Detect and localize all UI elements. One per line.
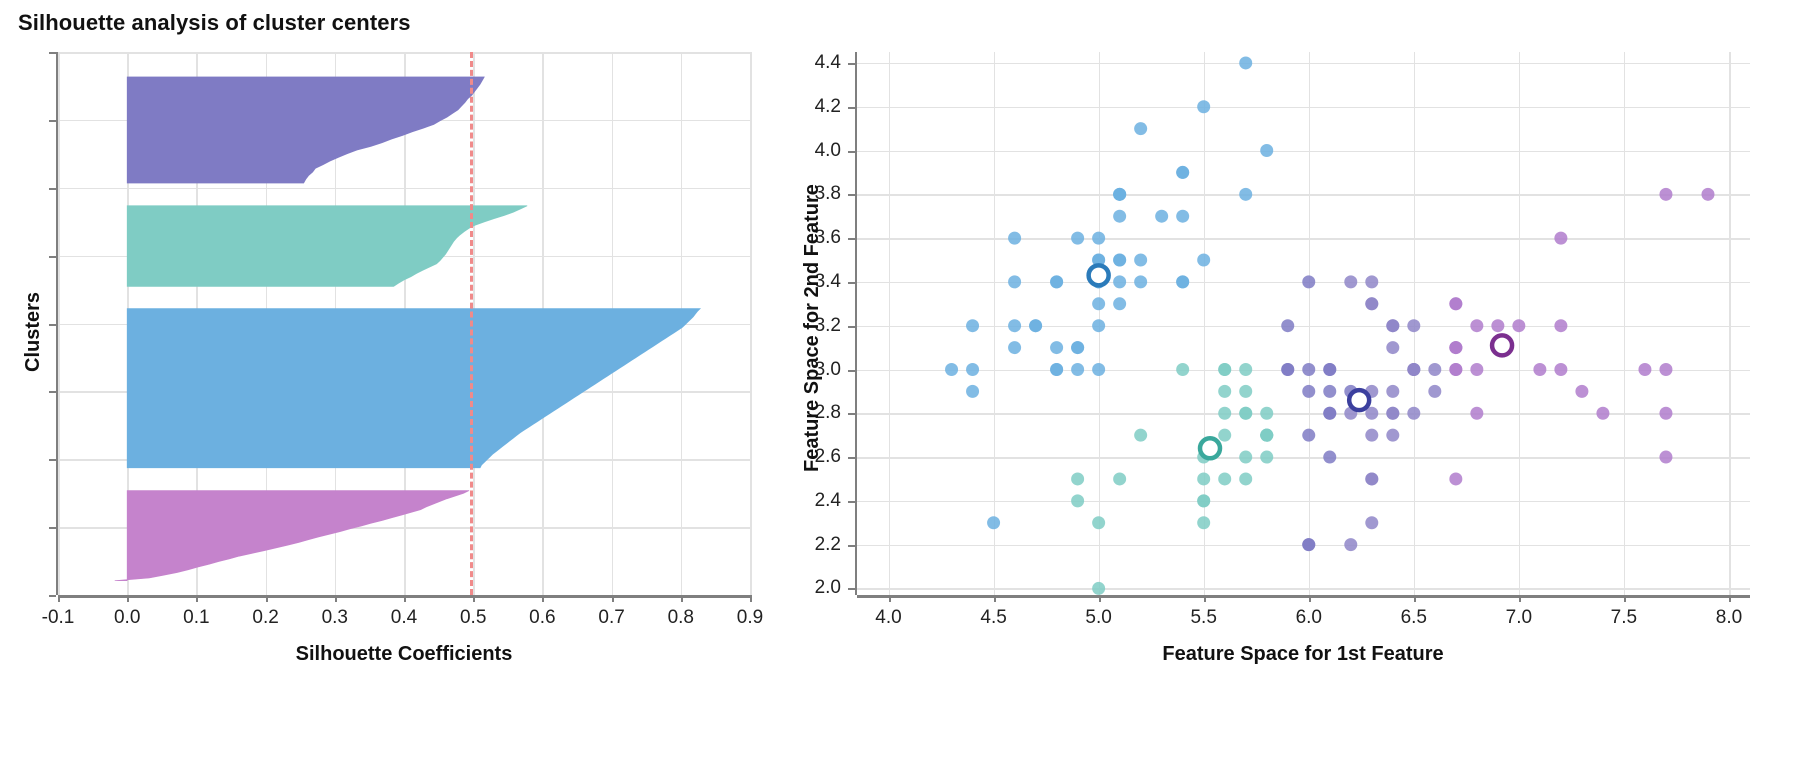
y-tick (49, 324, 56, 326)
scatter-point (1092, 582, 1105, 595)
scatter-point (1008, 232, 1021, 245)
scatter-plot-area: 4.04.55.05.56.06.57.07.58.02.02.22.42.62… (857, 52, 1750, 595)
scatter-point (1113, 254, 1126, 267)
scatter-point (1239, 407, 1252, 420)
scatter-point (1260, 429, 1273, 442)
y-tick-label: 4.4 (815, 52, 841, 74)
scatter-point (1344, 275, 1357, 288)
x-tick-label: 0.7 (598, 607, 624, 629)
x-tick (612, 595, 614, 602)
scatter-panel: 4.04.55.05.56.06.57.07.58.02.02.22.42.62… (857, 52, 1750, 595)
scatter-point (1260, 407, 1273, 420)
x-tick (196, 595, 198, 602)
scatter-point (1365, 297, 1378, 310)
y-tick (848, 107, 855, 109)
y-tick (848, 282, 855, 284)
y-tick-label: 4.2 (815, 96, 841, 118)
scatter-point (1218, 363, 1231, 376)
y-tick (848, 63, 855, 65)
x-tick (1309, 595, 1311, 602)
y-tick-label: 2.0 (815, 577, 841, 599)
cluster-center-marker-0 (1089, 265, 1109, 285)
scatter-point (987, 516, 1000, 529)
cluster-center-marker-3 (1492, 335, 1512, 355)
scatter-point (1071, 232, 1084, 245)
x-tick (473, 595, 475, 602)
x-tick-label: 6.5 (1401, 607, 1427, 629)
x-tick (750, 595, 752, 602)
scatter-point (1218, 385, 1231, 398)
scatter-point (1176, 166, 1189, 179)
scatter-point (1260, 144, 1273, 157)
scatter-point (1050, 363, 1063, 376)
silhouette-band-cluster-2 (127, 309, 700, 468)
x-tick-label: 0.9 (737, 607, 763, 629)
y-tick (848, 194, 855, 196)
x-tick-label: 8.0 (1716, 607, 1742, 629)
scatter-point (1155, 210, 1168, 223)
scatter-point (1323, 407, 1336, 420)
scatter-point (1008, 275, 1021, 288)
silhouette-panel: -0.10.00.10.20.30.40.50.60.70.80.9 Silho… (58, 52, 750, 595)
scatter-point (1071, 363, 1084, 376)
scatter-point (1239, 451, 1252, 464)
figure-canvas: Silhouette analysis of cluster centers -… (0, 0, 1802, 770)
scatter-point (1092, 232, 1105, 245)
y-tick (49, 527, 56, 529)
scatter-point (966, 319, 979, 332)
scatter-point (1071, 341, 1084, 354)
scatter-point (1449, 297, 1462, 310)
silhouette-xlabel: Silhouette Coefficients (296, 643, 513, 666)
scatter-point (1197, 472, 1210, 485)
scatter-point (1449, 472, 1462, 485)
scatter-point (1302, 385, 1315, 398)
silhouette-plot-area: -0.10.00.10.20.30.40.50.60.70.80.9 (58, 52, 750, 595)
x-tick-label: 0.5 (460, 607, 486, 629)
scatter-point (1092, 363, 1105, 376)
scatter-point (1092, 297, 1105, 310)
scatter-point (1470, 319, 1483, 332)
x-tick (1204, 595, 1206, 602)
scatter-point (1113, 297, 1126, 310)
silhouette-ylabel: Clusters (22, 292, 45, 372)
scatter-point (1554, 363, 1567, 376)
scatter-point (1428, 385, 1441, 398)
scatter-point (1239, 188, 1252, 201)
scatter-point (1407, 363, 1420, 376)
y-tick (49, 391, 56, 393)
scatter-point (1386, 341, 1399, 354)
scatter-point (1386, 319, 1399, 332)
y-tick (49, 188, 56, 190)
scatter-point (1281, 319, 1294, 332)
scatter-point (1239, 56, 1252, 69)
x-tick (1519, 595, 1521, 602)
scatter-point (1281, 363, 1294, 376)
scatter-point (945, 363, 958, 376)
x-tick-label: 7.0 (1506, 607, 1532, 629)
scatter-point (1239, 472, 1252, 485)
scatter-point (1659, 363, 1672, 376)
scatter-point (1302, 429, 1315, 442)
scatter-point (1197, 254, 1210, 267)
scatter-point (1386, 429, 1399, 442)
scatter-point (1323, 363, 1336, 376)
scatter-point (1596, 407, 1609, 420)
scatter-point (1554, 319, 1567, 332)
scatter-point (1449, 341, 1462, 354)
scatter-x-axis-spine (857, 595, 1750, 598)
scatter-point (1113, 472, 1126, 485)
scatter-point (1659, 451, 1672, 464)
scatter-point (1659, 188, 1672, 201)
scatter-point (1239, 363, 1252, 376)
scatter-point (1323, 451, 1336, 464)
x-tick (1624, 595, 1626, 602)
scatter-point (1407, 319, 1420, 332)
scatter-point (1491, 319, 1504, 332)
scatter-point (1365, 472, 1378, 485)
scatter-point (1470, 407, 1483, 420)
y-tick-label: 2.2 (815, 534, 841, 556)
scatter-point (1470, 363, 1483, 376)
scatter-y-axis-spine (855, 52, 858, 595)
scatter-point (1008, 341, 1021, 354)
scatter-point (1050, 275, 1063, 288)
scatter-point (1323, 385, 1336, 398)
scatter-point (1218, 429, 1231, 442)
scatter-points (857, 52, 1750, 595)
x-tick (994, 595, 996, 602)
scatter-point (1260, 451, 1273, 464)
x-tick (1414, 595, 1416, 602)
figure-title: Silhouette analysis of cluster centers (18, 10, 411, 36)
scatter-point (1008, 319, 1021, 332)
x-tick-label: 5.5 (1190, 607, 1216, 629)
x-gridline (750, 52, 752, 595)
x-tick-label: -0.1 (42, 607, 75, 629)
scatter-point (1365, 275, 1378, 288)
y-tick (49, 459, 56, 461)
scatter-point (1071, 494, 1084, 507)
scatter-point (1113, 210, 1126, 223)
scatter-point (1533, 363, 1546, 376)
x-tick (127, 595, 129, 602)
x-tick (404, 595, 406, 602)
x-tick (1099, 595, 1101, 602)
scatter-point (1197, 100, 1210, 113)
x-tick (335, 595, 337, 602)
silhouette-band-cluster-3 (115, 491, 469, 581)
scatter-point (1134, 275, 1147, 288)
scatter-ylabel: Feature Space for 2nd Feature (801, 184, 824, 472)
y-tick (848, 588, 855, 590)
silhouette-bands (58, 52, 750, 595)
scatter-point (1029, 319, 1042, 332)
y-tick (848, 238, 855, 240)
x-tick (681, 595, 683, 602)
y-tick (848, 457, 855, 459)
cluster-center-marker-2 (1349, 390, 1369, 410)
scatter-point (1407, 407, 1420, 420)
scatter-point (1365, 516, 1378, 529)
scatter-point (1575, 385, 1588, 398)
cluster-center-marker-1 (1200, 438, 1220, 458)
x-tick-label: 0.2 (252, 607, 278, 629)
x-tick (542, 595, 544, 602)
scatter-point (1638, 363, 1651, 376)
y-tick (848, 326, 855, 328)
scatter-point (1218, 407, 1231, 420)
x-tick-label: 0.8 (668, 607, 694, 629)
x-tick (1729, 595, 1731, 602)
scatter-point (1113, 275, 1126, 288)
y-tick (848, 151, 855, 153)
y-tick (848, 545, 855, 547)
scatter-point (1659, 407, 1672, 420)
y-tick (49, 120, 56, 122)
scatter-point (1134, 429, 1147, 442)
x-tick-label: 6.0 (1296, 607, 1322, 629)
scatter-point (1071, 472, 1084, 485)
scatter-point (1428, 363, 1441, 376)
scatter-point (966, 363, 979, 376)
scatter-point (1092, 516, 1105, 529)
silhouette-band-cluster-0 (127, 77, 484, 183)
scatter-point (1092, 319, 1105, 332)
y-tick (49, 256, 56, 258)
scatter-point (1386, 407, 1399, 420)
scatter-point (1302, 275, 1315, 288)
y-tick-label: 4.0 (815, 140, 841, 162)
y-tick (49, 595, 56, 597)
scatter-point (1176, 210, 1189, 223)
scatter-point (966, 385, 979, 398)
scatter-point (1512, 319, 1525, 332)
average-silhouette-line (470, 52, 473, 595)
x-tick-label: 0.0 (114, 607, 140, 629)
x-tick-label: 0.6 (529, 607, 555, 629)
x-tick-label: 0.1 (183, 607, 209, 629)
scatter-point (1344, 538, 1357, 551)
y-tick (848, 370, 855, 372)
x-tick (889, 595, 891, 602)
x-tick (58, 595, 60, 602)
x-tick-label: 0.4 (391, 607, 417, 629)
scatter-point (1113, 188, 1126, 201)
y-tick (49, 52, 56, 54)
scatter-point (1554, 232, 1567, 245)
silhouette-band-cluster-1 (127, 206, 527, 287)
x-tick-label: 5.0 (1085, 607, 1111, 629)
x-tick-label: 7.5 (1611, 607, 1637, 629)
scatter-point (1050, 341, 1063, 354)
scatter-point (1302, 363, 1315, 376)
scatter-point (1176, 363, 1189, 376)
scatter-point (1386, 385, 1399, 398)
y-tick (848, 501, 855, 503)
x-tick (266, 595, 268, 602)
scatter-point (1218, 472, 1231, 485)
scatter-point (1302, 538, 1315, 551)
x-tick-label: 0.3 (322, 607, 348, 629)
x-tick-label: 4.0 (875, 607, 901, 629)
scatter-point (1449, 363, 1462, 376)
scatter-point (1134, 254, 1147, 267)
scatter-point (1239, 385, 1252, 398)
y-tick-label: 2.4 (815, 490, 841, 512)
scatter-point (1134, 122, 1147, 135)
x-tick-label: 4.5 (980, 607, 1006, 629)
scatter-point (1701, 188, 1714, 201)
scatter-point (1176, 275, 1189, 288)
scatter-point (1197, 516, 1210, 529)
y-tick (848, 413, 855, 415)
scatter-xlabel: Feature Space for 1st Feature (1162, 643, 1443, 666)
scatter-point (1365, 429, 1378, 442)
scatter-point (1197, 494, 1210, 507)
